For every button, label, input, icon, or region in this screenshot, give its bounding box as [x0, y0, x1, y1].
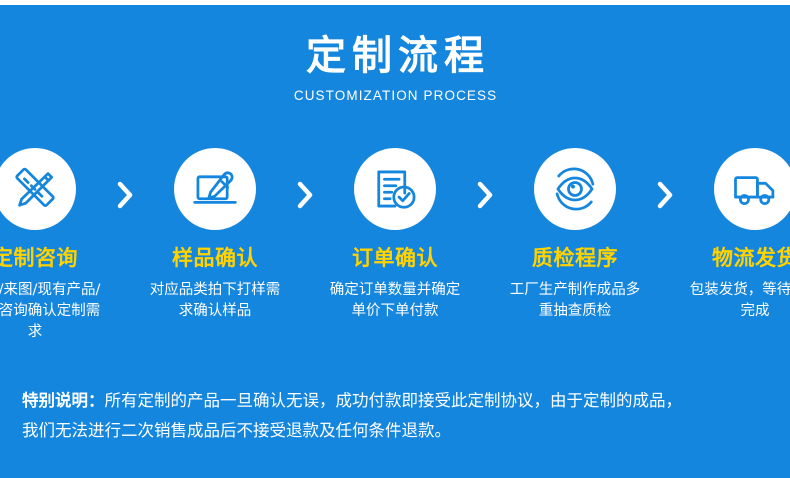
process-step-1: 定制咨询 来样/来图/现有产品/优化咨询确认定制需求	[0, 148, 108, 343]
special-note: 特别说明：所有定制的产品一旦确认无误，成功付款即接受此定制协议，由于定制的成品，…	[22, 386, 772, 446]
step-separator-2	[288, 148, 323, 210]
step-title-2: 样品确认	[172, 245, 258, 271]
page-subtitle: CUSTOMIZATION PROCESS	[0, 88, 790, 104]
special-note-line-2: 我们无法进行二次销售成品后不接受退款及任何条件退款。	[22, 416, 772, 446]
chevron-right-icon	[475, 180, 495, 210]
step-desc-2: 对应品类拍下打样需求确认样品	[144, 280, 286, 322]
step-title-1: 定制咨询	[0, 245, 78, 271]
banner-header: 定制流程 CUSTOMIZATION PROCESS	[0, 33, 790, 104]
step-icon-circle-4	[534, 148, 616, 230]
chevron-right-icon	[655, 180, 675, 210]
special-note-label: 特别说明：	[22, 391, 105, 410]
step-icon-circle-5	[714, 148, 790, 230]
eye-inspection-icon	[549, 163, 601, 215]
special-note-line-1: 特别说明：所有定制的产品一旦确认无误，成功付款即接受此定制协议，由于定制的成品，	[22, 386, 772, 416]
step-icon-circle-2	[174, 148, 256, 230]
process-step-5: 物流发货 包装发货，等待交易完成	[683, 148, 790, 322]
process-step-4: 质检程序 工厂生产制作成品多重抽查质检	[503, 148, 648, 322]
chevron-right-icon	[295, 180, 315, 210]
document-check-icon	[369, 163, 421, 215]
step-title-3: 订单确认	[352, 245, 438, 271]
process-step-3: 订单确认 确定订单数量并确定单价下单付款	[323, 148, 468, 322]
step-separator-4	[648, 148, 683, 210]
delivery-truck-icon	[729, 163, 781, 215]
step-separator-1	[108, 148, 143, 210]
step-desc-4: 工厂生产制作成品多重抽查质检	[504, 280, 646, 322]
step-icon-circle-3	[354, 148, 436, 230]
step-separator-3	[468, 148, 503, 210]
process-steps: 定制咨询 来样/来图/现有产品/优化咨询确认定制需求	[0, 148, 790, 363]
process-step-2: 样品确认 对应品类拍下打样需求确认样品	[143, 148, 288, 322]
step-desc-1: 来样/来图/现有产品/优化咨询确认定制需求	[0, 280, 106, 343]
step-desc-5: 包装发货，等待交易完成	[684, 280, 790, 322]
special-note-text-1: 所有定制的产品一旦确认无误，成功付款即接受此定制协议，由于定制的成品，	[105, 391, 683, 410]
page-title: 定制流程	[0, 33, 790, 79]
drawing-tablet-pen-icon	[189, 163, 241, 215]
chevron-right-icon	[115, 180, 135, 210]
step-icon-circle-1	[0, 148, 76, 230]
customization-process-banner: 定制流程 CUSTOMIZATION PROCESS	[0, 0, 790, 478]
ruler-pencil-icon	[9, 163, 61, 215]
step-title-5: 物流发货	[712, 245, 790, 271]
step-title-4: 质检程序	[532, 245, 618, 271]
step-desc-3: 确定订单数量并确定单价下单付款	[324, 280, 466, 322]
